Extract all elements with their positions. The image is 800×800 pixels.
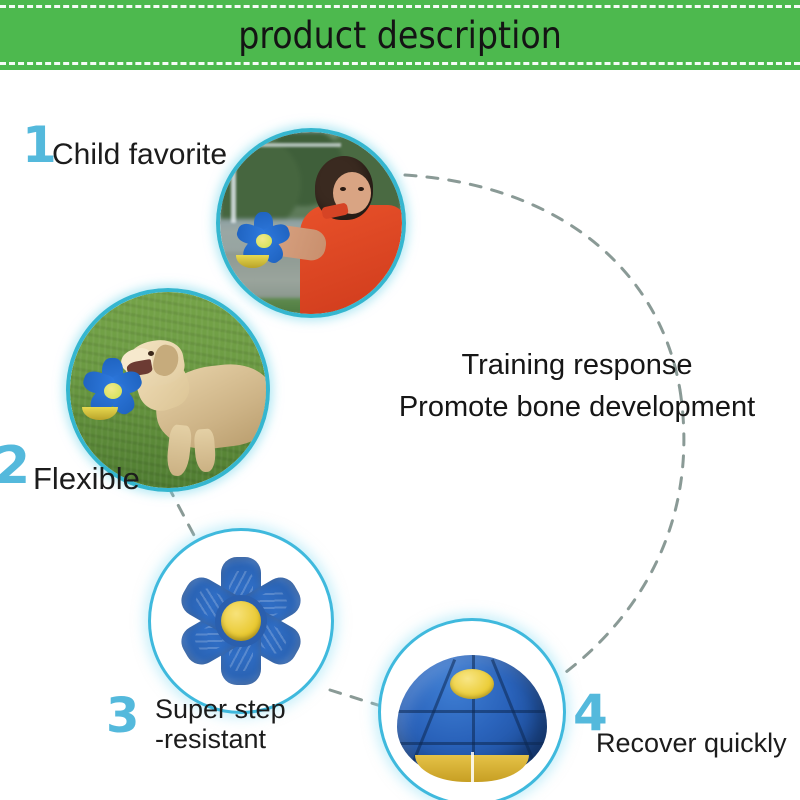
feature-label-2: Flexible [33, 462, 140, 497]
product-description-infographic: product description [0, 0, 800, 800]
center-text-line-1: Training response [352, 344, 800, 386]
center-text-line-2: Promote bone development [352, 386, 800, 428]
page-title: product description [238, 14, 562, 57]
header-banner: product description [0, 0, 800, 70]
ball-graphic [397, 655, 547, 779]
feature-label-4: Recover quickly [596, 728, 787, 758]
feature-image-flower-disc[interactable] [148, 528, 334, 714]
feature-image-ball[interactable] [378, 618, 566, 800]
disc-icon [233, 214, 295, 270]
banner-dashed-line-bottom [0, 62, 800, 65]
banner-dashed-line-top [0, 5, 800, 8]
feature-label-3: Super step -resistant [155, 694, 286, 754]
feature-image-child[interactable] [216, 128, 406, 318]
arc-right-to-ball [566, 390, 684, 672]
flower-disc-graphic [166, 546, 316, 696]
feature-label-1: Child favorite [52, 138, 227, 172]
center-benefit-text: Training response Promote bone developme… [352, 344, 800, 428]
disc-icon [78, 361, 148, 423]
feature-number-2: 2 [0, 440, 30, 492]
feature-number-3: 3 [106, 692, 139, 740]
